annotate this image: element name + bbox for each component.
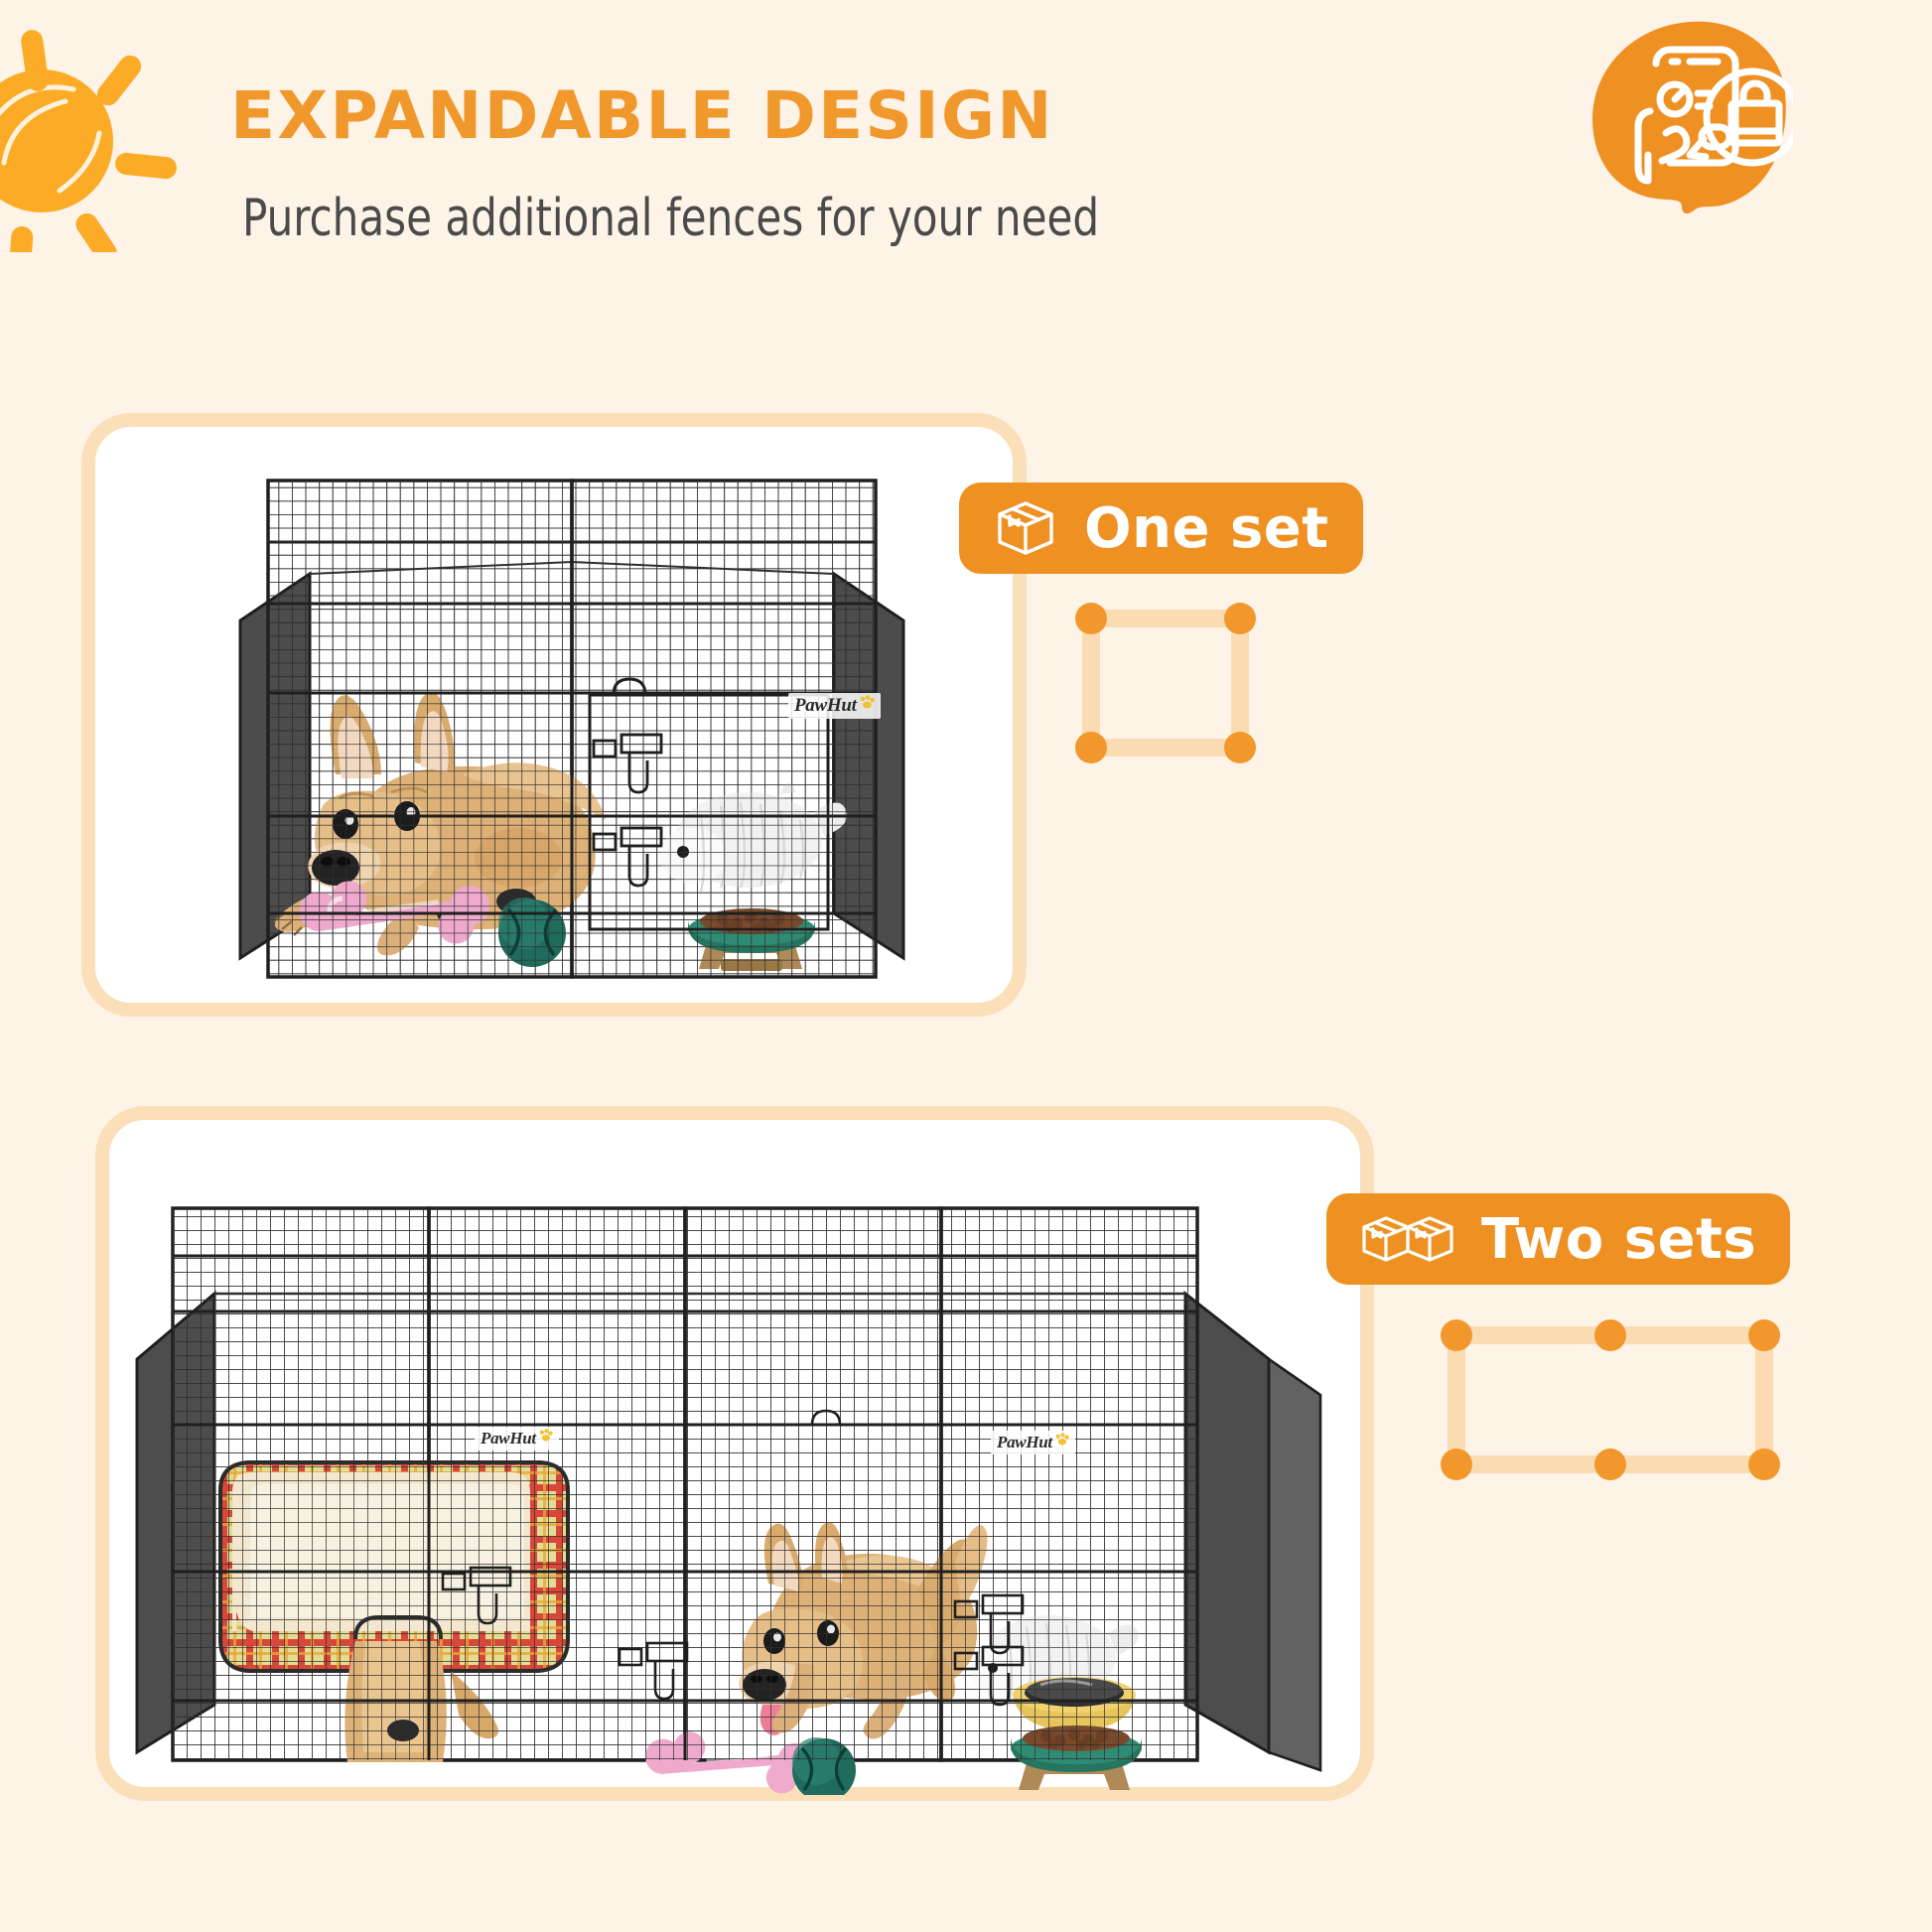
two-sets-badge[interactable]: Two sets xyxy=(1326,1193,1790,1285)
two-sets-product-photo: PawHut PawHut xyxy=(117,1174,1358,1795)
two-sets-badge-label: Two sets xyxy=(1481,1207,1756,1272)
single-box-icon xyxy=(993,495,1058,561)
pawhut-watermark: PawHut xyxy=(991,1431,1075,1454)
header: EXPANDABLE DESIGN Purchase additional fe… xyxy=(0,0,1932,318)
one-set-badge-label: One set xyxy=(1084,496,1329,561)
one-set-layout-diagram xyxy=(1076,604,1255,762)
diagram-node xyxy=(1075,603,1107,634)
diagram-node xyxy=(1441,1449,1472,1480)
diagram-node xyxy=(1748,1319,1780,1351)
page-subtitle: Purchase additional fences for your need xyxy=(242,189,1099,248)
page-title: EXPANDABLE DESIGN xyxy=(230,77,1054,154)
diagram-node xyxy=(1441,1319,1472,1351)
diagram-node xyxy=(1224,603,1256,634)
pawhut-watermark: PawHut xyxy=(475,1427,559,1450)
diagram-node xyxy=(1075,732,1107,763)
two-sets-card: PawHut PawHut xyxy=(95,1106,1374,1801)
one-set-product-photo: PawHut xyxy=(224,447,919,1008)
paw-print-icon xyxy=(538,1429,553,1442)
sun-icon xyxy=(0,14,193,252)
double-box-icon xyxy=(1360,1206,1455,1272)
paw-print-icon xyxy=(1054,1433,1069,1446)
pawhut-watermark: PawHut xyxy=(788,693,881,719)
one-set-badge[interactable]: One set xyxy=(959,483,1363,574)
diagram-node xyxy=(1224,732,1256,763)
paw-print-icon xyxy=(859,695,875,709)
one-set-card: PawHut xyxy=(81,413,1027,1017)
online-shopping-hand-phone-icon xyxy=(1587,16,1793,219)
two-sets-layout-diagram xyxy=(1442,1320,1779,1479)
diagram-node xyxy=(1748,1449,1780,1480)
diagram-node xyxy=(1594,1319,1626,1351)
diagram-node xyxy=(1594,1449,1626,1480)
